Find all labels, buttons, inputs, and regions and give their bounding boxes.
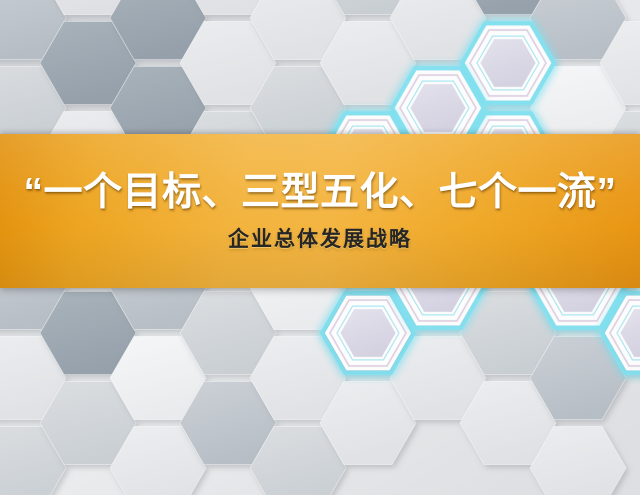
slide-title: “一个目标、三型五化、七个一流” (23, 173, 616, 212)
slide-subtitle: 企业总体发展战略 (228, 229, 412, 250)
title-banner: “一个目标、三型五化、七个一流” 企业总体发展战略 (0, 134, 640, 288)
presentation-slide: “一个目标、三型五化、七个一流” 企业总体发展战略 (0, 0, 640, 495)
